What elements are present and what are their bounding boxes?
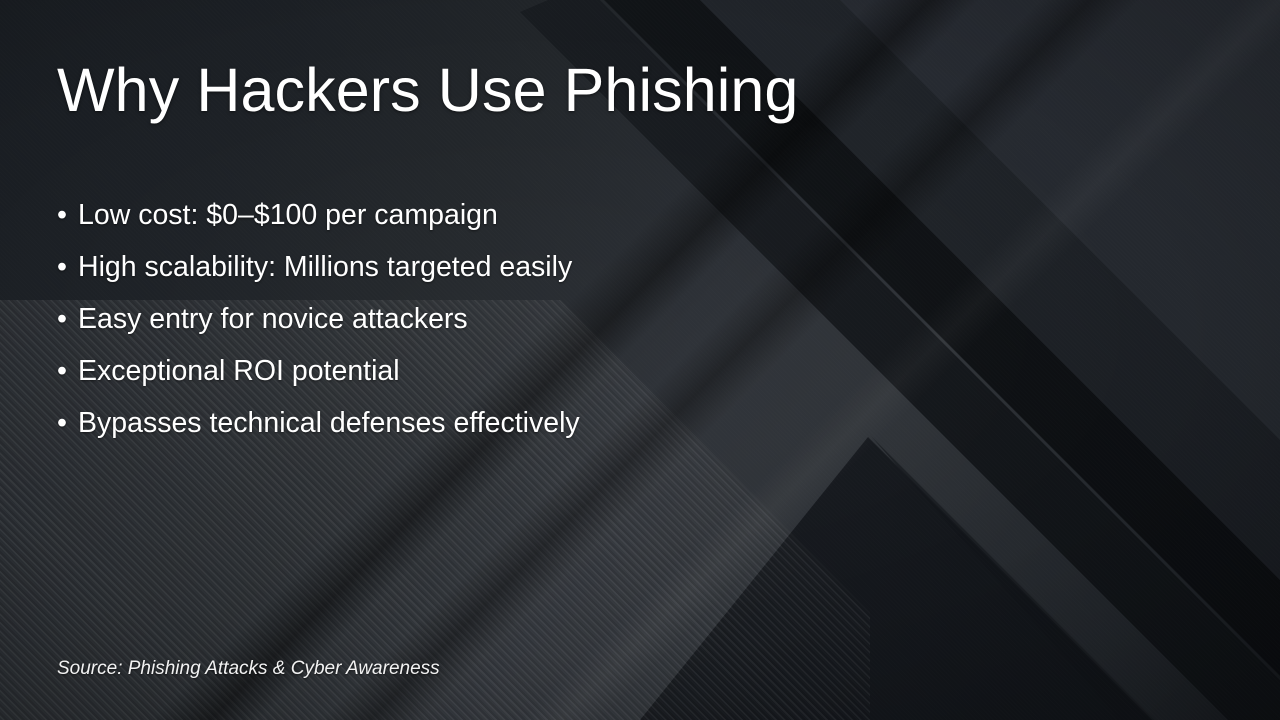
- bullet-point-icon: •: [57, 241, 78, 293]
- bullet-text: Low cost: $0–$100 per campaign: [78, 189, 498, 241]
- bullet-point-icon: •: [57, 397, 78, 449]
- source-citation: Source: Phishing Attacks & Cyber Awarene…: [57, 656, 440, 682]
- slide-content: Why Hackers Use Phishing • Low cost: $0–…: [0, 0, 1280, 720]
- bullet-text: Exceptional ROI potential: [78, 345, 400, 397]
- bullet-text: Easy entry for novice attackers: [78, 293, 468, 345]
- bullet-text: Bypasses technical defenses effectively: [78, 397, 580, 449]
- list-item: • Low cost: $0–$100 per campaign: [57, 189, 580, 241]
- list-item: • High scalability: Millions targeted ea…: [57, 241, 580, 293]
- bullet-point-icon: •: [57, 345, 78, 397]
- bullet-point-icon: •: [57, 293, 78, 345]
- list-item: • Easy entry for novice attackers: [57, 293, 580, 345]
- slide-title: Why Hackers Use Phishing: [57, 54, 798, 126]
- list-item: • Bypasses technical defenses effectivel…: [57, 397, 580, 449]
- bullet-text: High scalability: Millions targeted easi…: [78, 241, 572, 293]
- bullet-list: • Low cost: $0–$100 per campaign • High …: [57, 189, 580, 449]
- bullet-point-icon: •: [57, 189, 78, 241]
- list-item: • Exceptional ROI potential: [57, 345, 580, 397]
- slide: Why Hackers Use Phishing • Low cost: $0–…: [0, 0, 1280, 720]
